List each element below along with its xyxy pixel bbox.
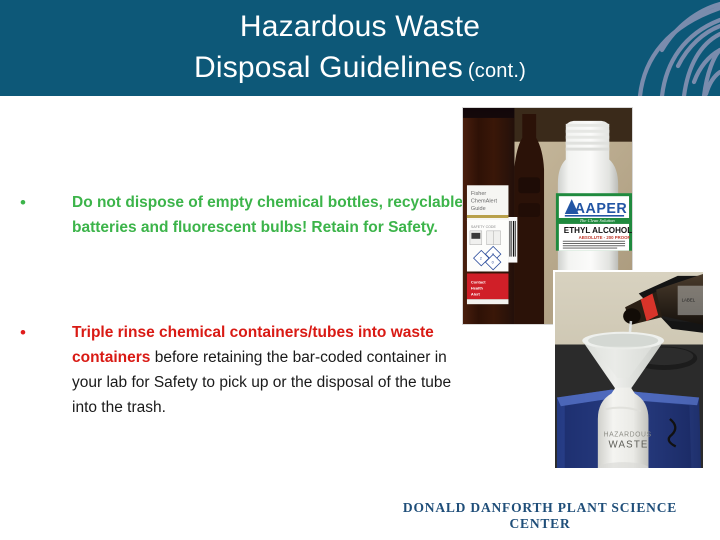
funnel-waste-photo: LABEL HAZARDOUS WASTE bbox=[553, 270, 705, 470]
svg-text:Contact: Contact bbox=[471, 279, 486, 284]
page-title-main: Disposal Guidelines bbox=[194, 51, 463, 84]
list-item: • Do not dispose of empty chemical bottl… bbox=[18, 190, 473, 240]
svg-text:Fisher: Fisher bbox=[471, 191, 487, 197]
page-title-line-1: Hazardous Waste bbox=[0, 0, 720, 47]
svg-text:ChemAlert: ChemAlert bbox=[471, 199, 498, 205]
slide-header: Hazardous Waste Disposal Guidelines(cont… bbox=[0, 0, 720, 96]
slide-body-content: • Do not dispose of empty chemical bottl… bbox=[0, 96, 470, 476]
svg-text:ETHYL ALCOHOL USP: ETHYL ALCOHOL USP bbox=[564, 226, 632, 235]
svg-text:WASTE: WASTE bbox=[609, 439, 649, 450]
bullet-marker-icon: • bbox=[18, 190, 72, 216]
svg-text:HAZARDOUS: HAZARDOUS bbox=[604, 432, 652, 439]
bullet-1-segment-green: Do not dispose of empty chemical bottles… bbox=[72, 194, 463, 236]
bullet-text-1: Do not dispose of empty chemical bottles… bbox=[72, 190, 473, 240]
bullet-text-2: Triple rinse chemical containers/tubes i… bbox=[72, 320, 473, 420]
list-item: • Triple rinse chemical containers/tubes… bbox=[18, 320, 473, 420]
svg-text:SAFETY CODE: SAFETY CODE bbox=[471, 225, 497, 229]
slide-title-block: Hazardous Waste Disposal Guidelines(cont… bbox=[0, 0, 720, 92]
svg-text:2: 2 bbox=[480, 256, 482, 261]
page-title-continued-marker: (cont.) bbox=[463, 60, 526, 82]
svg-text:The Clean Solution: The Clean Solution bbox=[580, 218, 616, 223]
svg-text:Alert: Alert bbox=[471, 291, 481, 296]
page-title-line-2: Disposal Guidelines(cont.) bbox=[0, 47, 720, 92]
bullet-marker-icon: • bbox=[18, 320, 72, 346]
svg-text:LABEL: LABEL bbox=[682, 297, 696, 302]
svg-text:Guide: Guide bbox=[471, 206, 486, 212]
svg-text:ABSOLUTE - 200 PROOF: ABSOLUTE - 200 PROOF bbox=[579, 235, 631, 240]
svg-text:AAPER: AAPER bbox=[575, 201, 628, 217]
svg-text:Health: Health bbox=[471, 285, 484, 290]
organization-footer-logo: DONALD DANFORTH PLANT SCIENCE CENTER bbox=[380, 500, 700, 532]
